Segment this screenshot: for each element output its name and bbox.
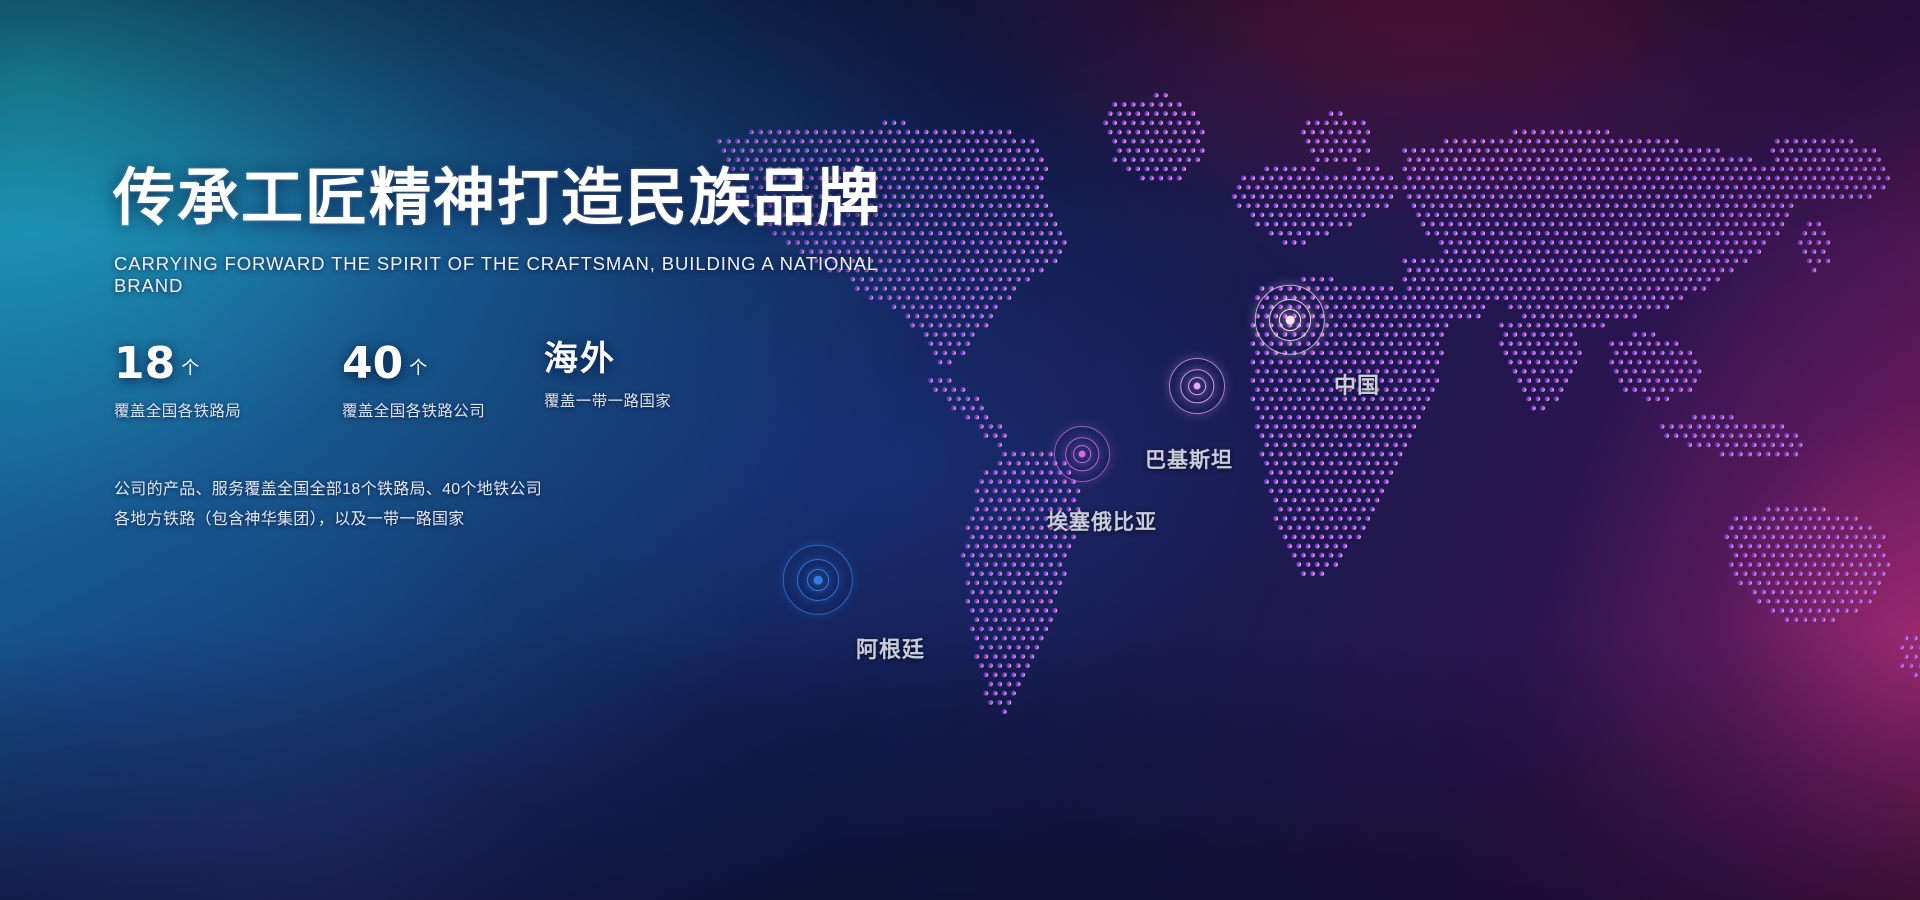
page-subtitle: CARRYING FORWARD THE SPIRIT OF THE CRAFT… [114, 253, 900, 297]
banner-stage: 中国巴基斯坦埃塞俄比亚阿根廷 传承工匠精神打造民族品牌 CARRYING FOR… [0, 0, 1920, 900]
description-line-2: 各地方铁路（包含神华集团），以及一带一路国家 [114, 505, 754, 535]
stat-item-3: 海外覆盖一带一路国家 [544, 342, 671, 411]
page-title: 传承工匠精神打造民族品牌 [113, 167, 881, 229]
stat-number: 40 [342, 338, 403, 389]
stats-row: 18个覆盖全国各铁路局40个覆盖全国各铁路公司海外覆盖一带一路国家 [114, 342, 834, 432]
stat-value: 海外 [544, 342, 671, 376]
stat-description: 覆盖一带一路国家 [544, 389, 671, 411]
stat-value: 18个 [114, 342, 241, 386]
marker-label: 埃塞俄比亚 [1047, 506, 1157, 536]
stat-description: 覆盖全国各铁路局 [114, 399, 241, 421]
description-paragraph: 公司的产品、服务覆盖全国全部18个铁路局、40个地铁公司各地方铁路（包含神华集团… [114, 475, 754, 535]
marker-center-dot [1286, 316, 1295, 325]
marker-label: 中国 [1334, 368, 1380, 400]
stat-item-1: 18个覆盖全国各铁路局 [114, 342, 241, 421]
stat-unit: 个 [409, 358, 427, 379]
marker-label: 巴基斯坦 [1145, 444, 1233, 474]
stat-value: 40个 [342, 342, 485, 386]
stat-unit: 个 [181, 358, 199, 379]
marker-center-dot [1194, 383, 1201, 390]
description-line-1: 公司的产品、服务覆盖全国全部18个铁路局、40个地铁公司 [114, 475, 754, 505]
stat-number: 18 [114, 338, 175, 389]
content-column: 传承工匠精神打造民族品牌 CARRYING FORWARD THE SPIRIT… [0, 0, 900, 900]
stat-description: 覆盖全国各铁路公司 [342, 399, 485, 421]
stat-item-2: 40个覆盖全国各铁路公司 [342, 342, 485, 421]
stat-number: 海外 [544, 339, 616, 379]
marker-center-dot [1079, 451, 1086, 458]
